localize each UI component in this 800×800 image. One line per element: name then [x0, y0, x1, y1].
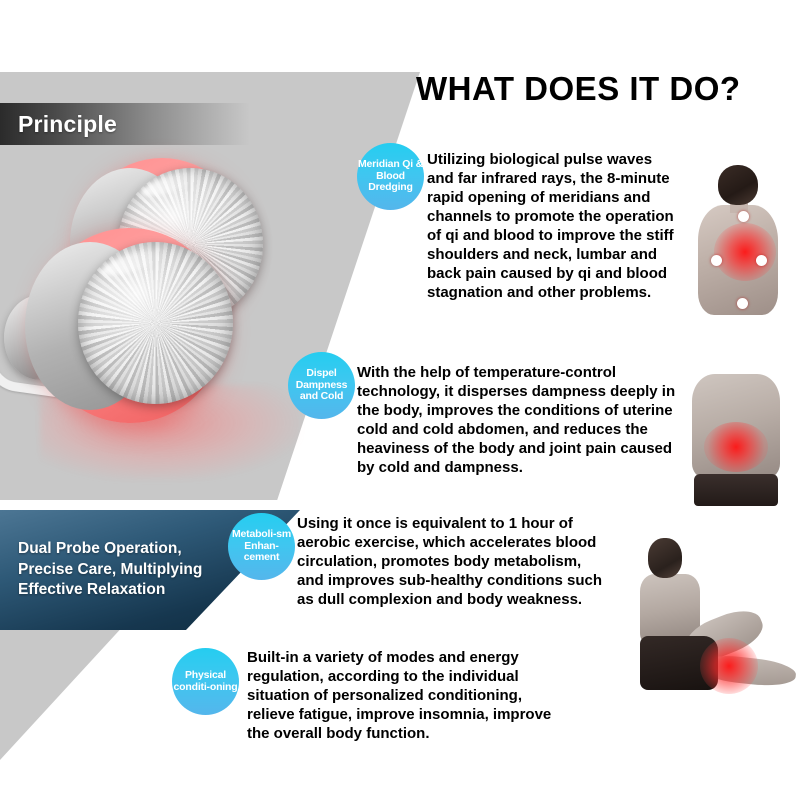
feature-description: Utilizing biological pulse waves and far…: [427, 150, 679, 302]
page-title: WHAT DOES IT DO?: [416, 70, 741, 108]
principle-label: Principle: [18, 111, 117, 138]
product-photo-dual-probe-massager: [0, 150, 330, 500]
feature-description: Built-in a variety of modes and energy r…: [247, 648, 567, 743]
pain-hotspot: [704, 422, 768, 472]
feature-description: With the help of temperature-control tec…: [357, 363, 681, 477]
shorts-shape: [694, 474, 778, 506]
pain-hotspot: [700, 638, 758, 694]
man-knee-pain-photo: [640, 530, 796, 710]
head-shape: [718, 165, 758, 205]
probe-metal-disc: [78, 242, 233, 404]
principle-banner: Principle: [0, 103, 250, 145]
feature-description: Using it once is equivalent to 1 hour of…: [297, 514, 607, 609]
badge-meridian-qi-blood-dredging: Meridian Qi & Blood Dredging: [357, 143, 424, 210]
acupoint-dot: [738, 211, 749, 222]
acupoint-dot: [756, 255, 767, 266]
acupoint-dot: [737, 298, 748, 309]
acupoint-dot: [711, 255, 722, 266]
head-shape: [648, 538, 682, 578]
tagline-text: Dual Probe Operation, Precise Care, Mult…: [18, 539, 218, 601]
badge-metabolism-enhancement: Metaboli-sm Enhan-cement: [228, 513, 295, 580]
man-abdomen-pain-photo: [682, 370, 790, 510]
badge-dispel-dampness-and-cold: Dispel Dampness and Cold: [288, 352, 355, 419]
badge-physical-conditioning: Physical conditi-oning: [172, 648, 239, 715]
pain-hotspot: [714, 223, 776, 281]
man-back-pain-photo: [680, 165, 790, 315]
product-infographic-poster: Principle Dual Probe Operation, Precise …: [0, 0, 800, 800]
